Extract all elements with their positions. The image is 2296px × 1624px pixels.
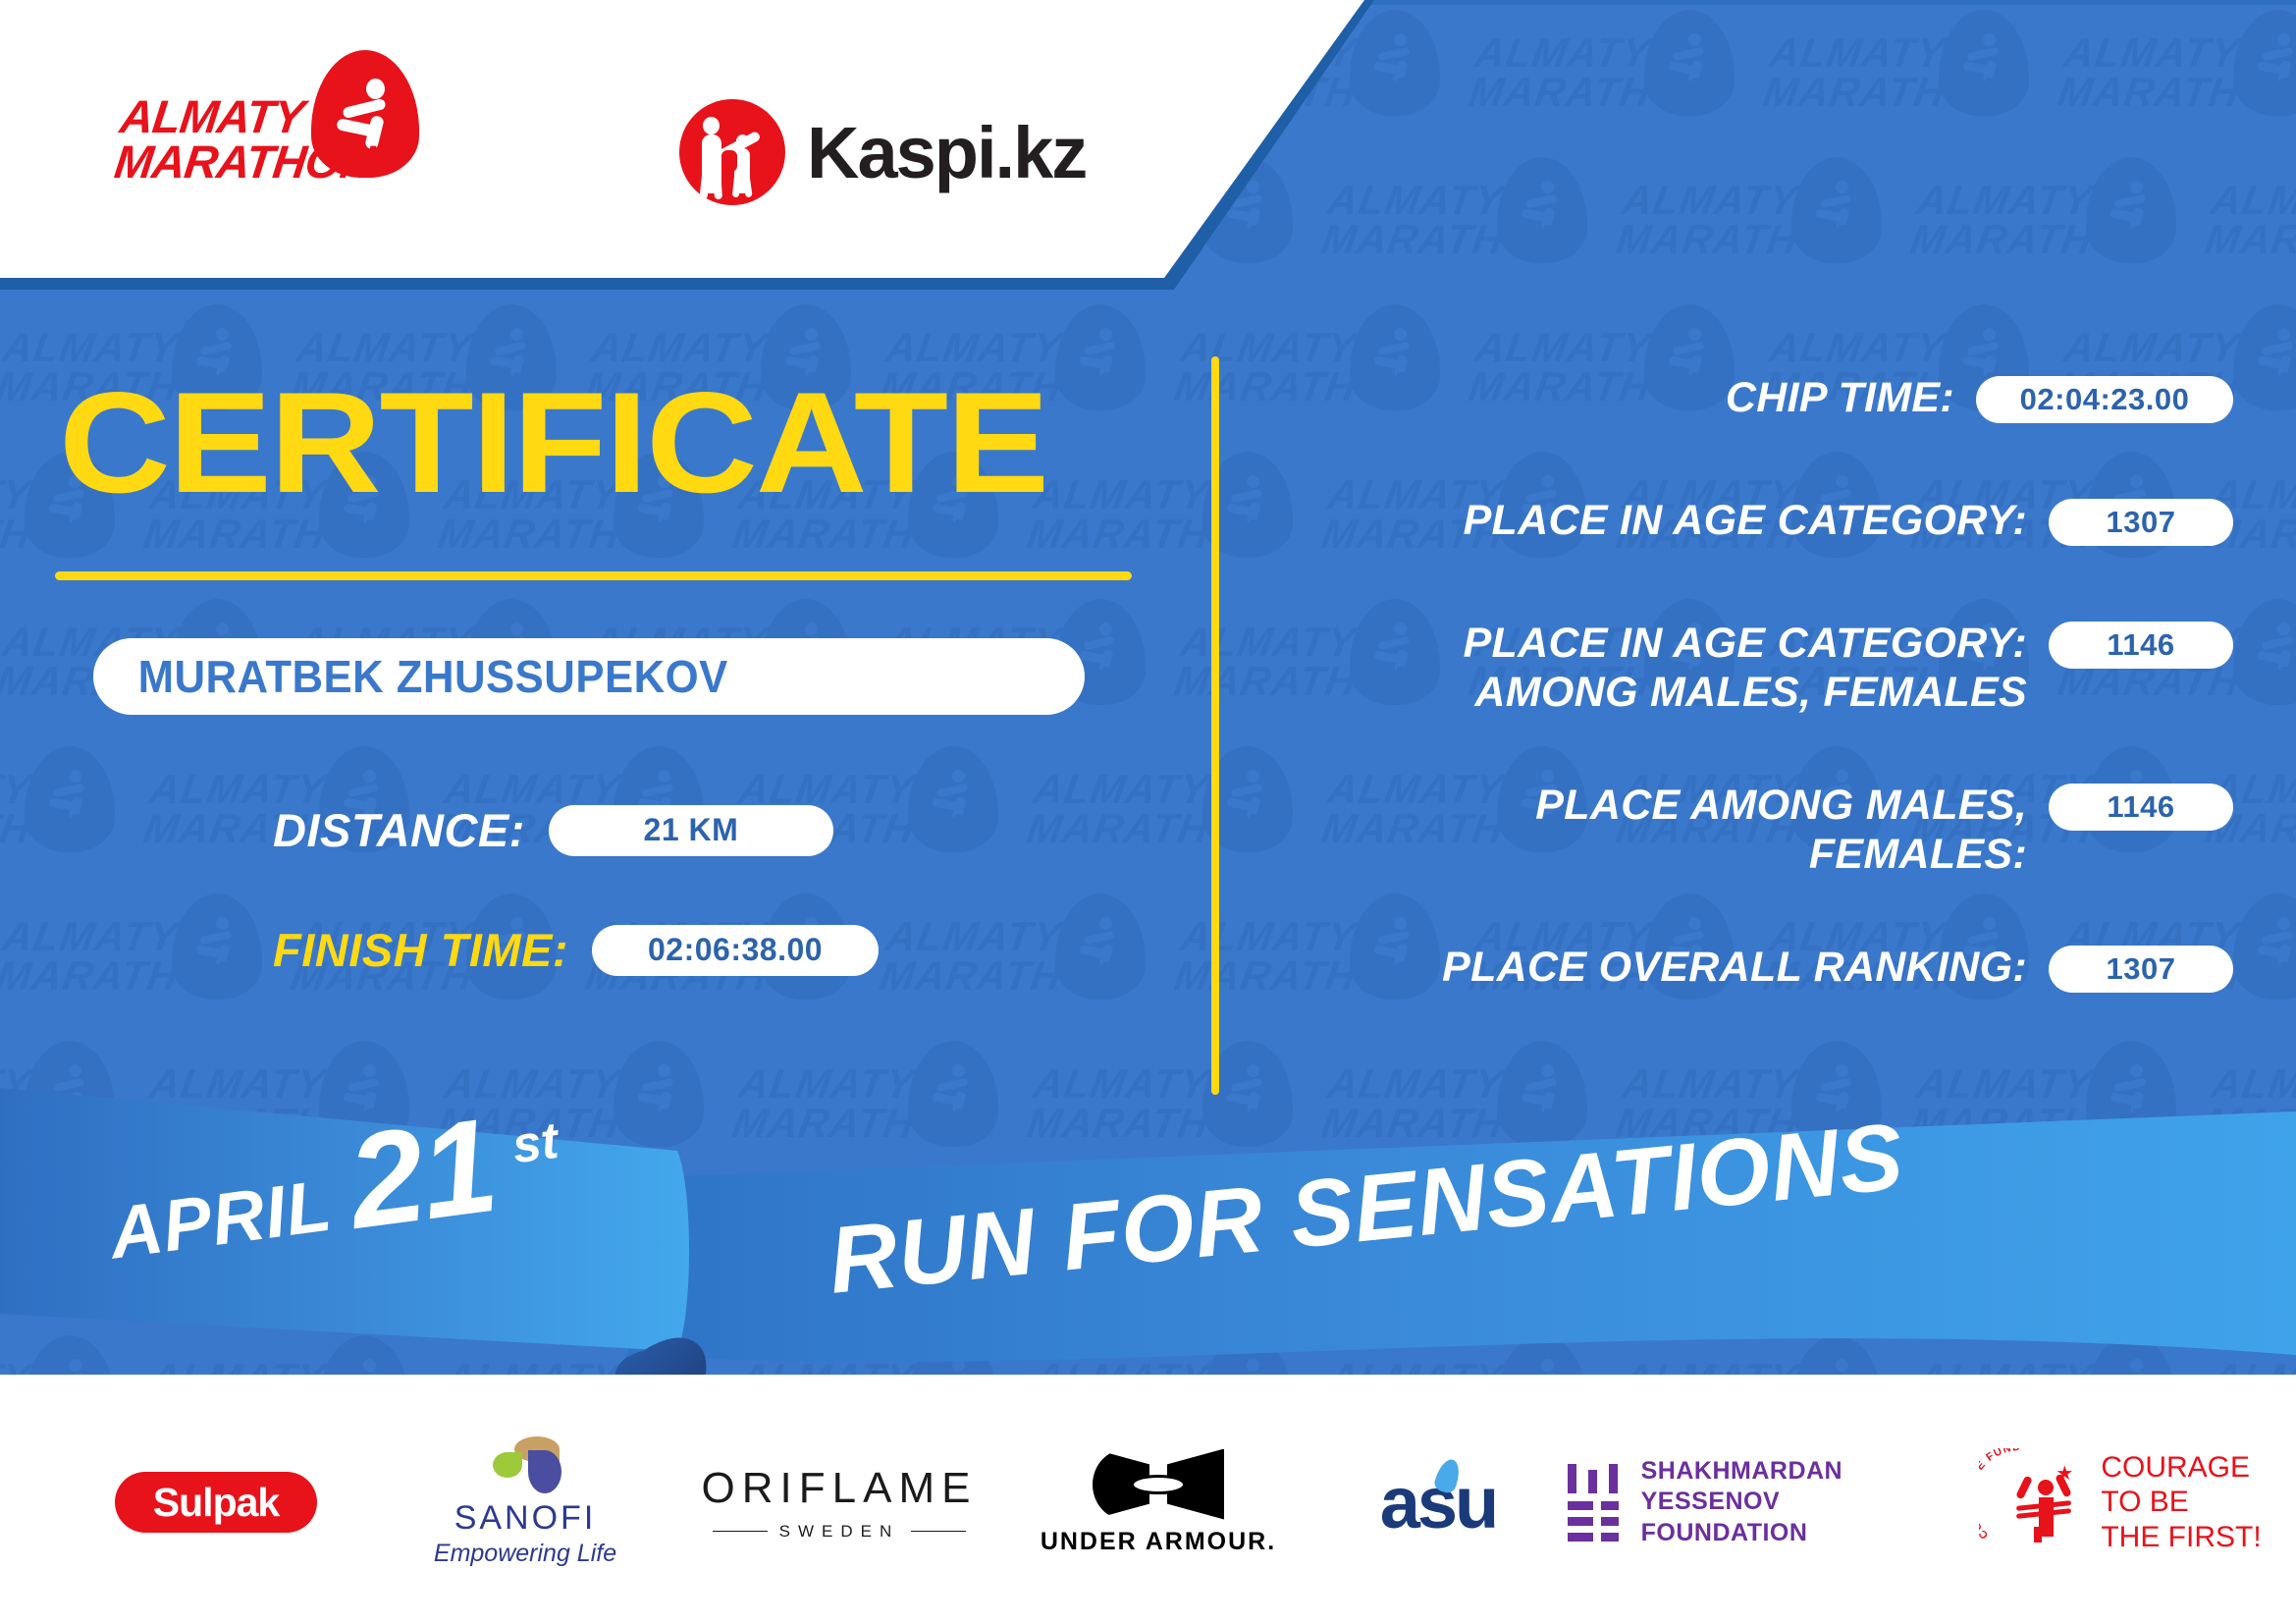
watermark-tile: ALMATYMARATHON [2209,147,2296,295]
kaspi-logo: Kaspi.kz [679,98,1086,206]
finish-time-label: FINISH TIME: [273,923,568,977]
stat-label: PLACE IN AGE CATEGORY: AMONG MALES, FEMA… [1266,619,2049,718]
yessenov-line-2: FOUNDATION [1641,1518,1958,1548]
almaty-marathon-logo: ALMATY MARATHON [118,51,442,189]
watermark-tile: ALMATYMARATHON [1325,147,1620,295]
oriflame-logo: ORIFLAME SWEDEN [702,1464,978,1542]
courage-fund-mark-icon: CORPORATE FUND ★ [1979,1448,2087,1556]
sponsor-sanofi: SANOFI Empowering Life [378,1414,672,1591]
kaspi-logo-text: Kaspi.kz [807,111,1086,194]
athlete-name-value: MURATBEK ZHUSSUPEKOV [93,650,728,703]
watermark-tile: ALMATYMARATHON [1914,147,2209,295]
stat-row-place-among-males-females: PLACE AMONG MALES, FEMALES: 1146 [1266,781,2233,880]
sponsor-asu: asu [1310,1414,1566,1591]
distance-row: DISTANCE: 21 KM [273,803,833,857]
stat-value: 1307 [2049,946,2233,993]
ribbon-day-suffix: st [509,1111,562,1176]
kaspi-people-circle-icon [679,99,785,205]
sponsor-logo-strip: Sulpak SANOFI Empowering Life ORIFLAME S… [0,1404,2296,1600]
yessenov-foundation-logo: SHAKHMARDAN YESSENOV FOUNDATION [1566,1456,1958,1548]
sponsor-sulpak: Sulpak [54,1414,378,1591]
stat-row-chip-time: CHIP TIME: 02:04:23.00 [1266,373,2233,423]
oriflame-name: ORIFLAME [702,1464,978,1513]
watermark-tile: ALMATYMARATHON [0,736,147,884]
stat-label-line1: PLACE IN AGE CATEGORY: [1464,620,2027,667]
stat-row-place-in-age-category-among: PLACE IN AGE CATEGORY: AMONG MALES, FEMA… [1266,619,2233,718]
column-divider [1211,356,1219,1095]
courage-fund-logo: CORPORATE FUND ★ COURAGE TO BE THE FIRST… [1979,1448,2261,1556]
title-divider-rule [55,571,1132,580]
stat-label-line2: FEMALES: [1266,830,2027,879]
oriflame-tagline: SWEDEN [779,1522,900,1542]
stat-label: PLACE OVERALL RANKING: [1266,943,2049,992]
sponsor-under-armour: UNDER ARMOUR. [1006,1414,1310,1591]
ribbon-day: 21 [343,1109,501,1240]
logo-line-2: MARATHON [112,135,376,188]
stat-label-line1: PLACE AMONG MALES, [1535,782,2027,829]
courage-line-2: TO BE [2101,1485,2261,1519]
finish-time-value: 02:06:38.00 [592,925,879,976]
sponsor-yessenov-foundation: SHAKHMARDAN YESSENOV FOUNDATION [1566,1414,1958,1591]
watermark-tile: ALMATYMARATHON [883,884,1178,1031]
sponsor-courage-fund: CORPORATE FUND ★ COURAGE TO BE THE FIRST… [1958,1414,2282,1591]
almaty-marathon-logo-text: ALMATY MARATHON [112,94,381,184]
oriflame-rule-left [713,1531,768,1532]
distance-label: DISTANCE: [273,803,525,857]
stat-label: PLACE AMONG MALES, FEMALES: [1266,781,2049,880]
athlete-name-field: MURATBEK ZHUSSUPEKOV [93,638,1085,715]
sanofi-logo: SANOFI Empowering Life [434,1436,616,1568]
stat-label-line1: CHIP TIME: [1726,374,1954,421]
distance-value: 21 KM [549,805,833,856]
stat-label-line1: PLACE OVERALL RANKING: [1442,944,2027,991]
stat-value: 02:04:23.00 [1976,376,2233,423]
sponsor-oriflame: ORIFLAME SWEDEN [672,1414,1006,1591]
stat-label: CHIP TIME: [1266,373,1976,422]
sulpak-logo: Sulpak [115,1472,317,1533]
yessenov-mark-icon [1566,1464,1622,1541]
stat-label-line2: AMONG MALES, FEMALES [1266,668,2027,717]
under-armour-logo: UNDER ARMOUR. [1041,1449,1276,1556]
watermark-tile: ALMATYMARATHON [0,884,294,1031]
yessenov-foundation-text: SHAKHMARDAN YESSENOV FOUNDATION [1641,1456,1958,1548]
stat-value: 1146 [2049,622,2233,669]
page-title: CERTIFICATE [59,371,1047,514]
stat-value: 1146 [2049,784,2233,831]
sanofi-mark-icon [483,1436,567,1493]
stat-value: 1307 [2049,499,2233,546]
watermark-tile: ALMATYMARATHON [1472,0,1767,147]
yessenov-line-1: SHAKHMARDAN YESSENOV [1641,1456,1958,1518]
watermark-tile: ALMATYMARATHON [2061,0,2296,147]
star-icon: ★ [2056,1464,2073,1484]
watermark-tile: ALMATYMARATHON [1767,0,2061,147]
stat-row-place-overall-ranking: PLACE OVERALL RANKING: 1307 [1266,943,2233,993]
watermark-tile: ALMATYMARATHON [1620,147,1914,295]
courage-line-3: THE FIRST! [2101,1520,2261,1554]
under-armour-icon [1093,1449,1224,1520]
finish-time-row: FINISH TIME: 02:06:38.00 [273,923,879,977]
stat-label-line1: PLACE IN AGE CATEGORY: [1464,497,2027,544]
stat-row-place-in-age-category: PLACE IN AGE CATEGORY: 1307 [1266,496,2233,546]
courage-line-1: COURAGE [2101,1450,2261,1485]
courage-fund-text: COURAGE TO BE THE FIRST! [2101,1450,2261,1554]
sanofi-name: SANOFI [434,1499,616,1538]
oriflame-rule-right [911,1531,966,1532]
oriflame-sub: SWEDEN [702,1522,978,1542]
sanofi-tagline: Empowering Life [434,1540,616,1568]
under-armour-name: UNDER ARMOUR. [1041,1528,1276,1556]
asu-logo: asu [1380,1461,1497,1544]
certificate-canvas: ALMATYMARATHONALMATYMARATHONALMATYMARATH… [0,0,2296,1624]
stat-label: PLACE IN AGE CATEGORY: [1266,496,2049,545]
